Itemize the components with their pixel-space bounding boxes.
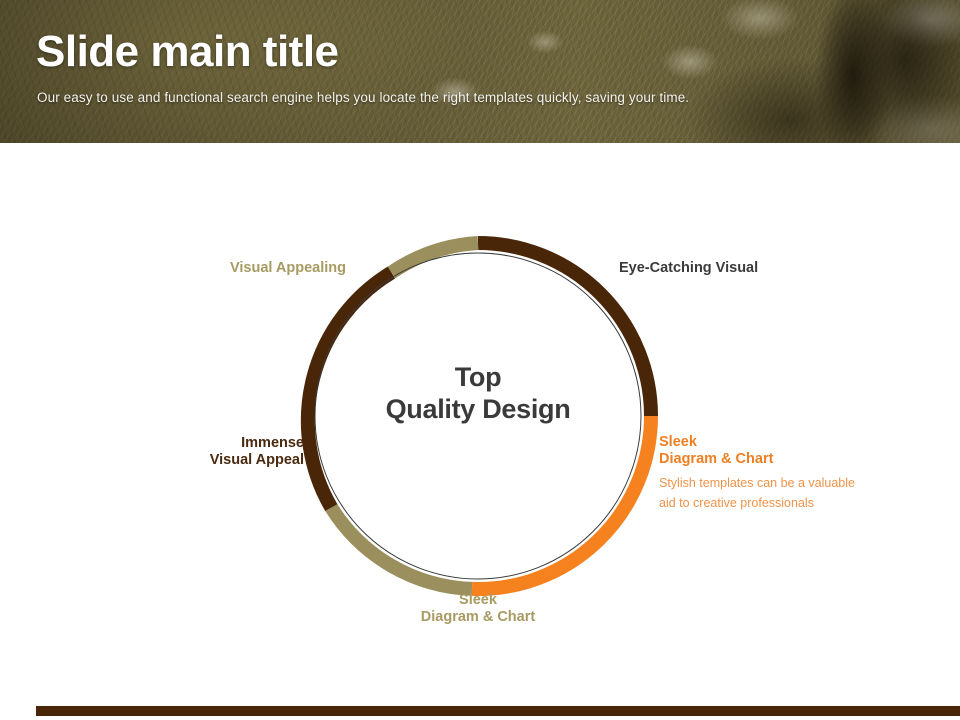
slide-header: Slide main title Our easy to use and fun… xyxy=(0,0,960,143)
chart-area: Top Quality Design Visual Appealing Eye-… xyxy=(0,143,960,706)
label-sleek-right-body: Stylish templates can be a valuable aid … xyxy=(659,474,855,513)
label-sleek-diagram-chart-bottom[interactable]: Sleek Diagram & Chart xyxy=(378,592,578,626)
donut-segment-sleek-right[interactable] xyxy=(472,416,651,589)
label-eye-catching-visual[interactable]: Eye-Catching Visual xyxy=(619,260,839,277)
label-sleek-bottom-line-2: Diagram & Chart xyxy=(378,609,578,626)
label-visual-appealing-text: Visual Appealing xyxy=(230,260,346,276)
donut-center-label: Top Quality Design xyxy=(330,362,626,426)
label-immense-visual-appeal[interactable]: Immense Visual Appeal xyxy=(120,435,304,469)
label-sleek-right-line-2: Diagram & Chart xyxy=(659,451,869,468)
page-title: Slide main title xyxy=(36,30,339,74)
page-subtitle: Our easy to use and functional search en… xyxy=(37,90,689,105)
label-visual-appealing[interactable]: Visual Appealing xyxy=(200,260,346,277)
label-sleek-diagram-chart-right[interactable]: Sleek Diagram & Chart Stylish templates … xyxy=(659,434,869,513)
label-immense-line-1: Immense xyxy=(120,435,304,452)
label-immense-line-2: Visual Appeal xyxy=(120,452,304,469)
donut-segment-visual-appealing[interactable] xyxy=(392,243,479,273)
label-eye-catching-text: Eye-Catching Visual xyxy=(619,260,758,276)
center-line-2: Quality Design xyxy=(330,394,626,426)
label-sleek-bottom-line-1: Sleek xyxy=(378,592,578,609)
center-line-1: Top xyxy=(330,362,626,394)
footer-accent-bar xyxy=(36,706,960,716)
label-sleek-right-line-1: Sleek xyxy=(659,434,869,451)
